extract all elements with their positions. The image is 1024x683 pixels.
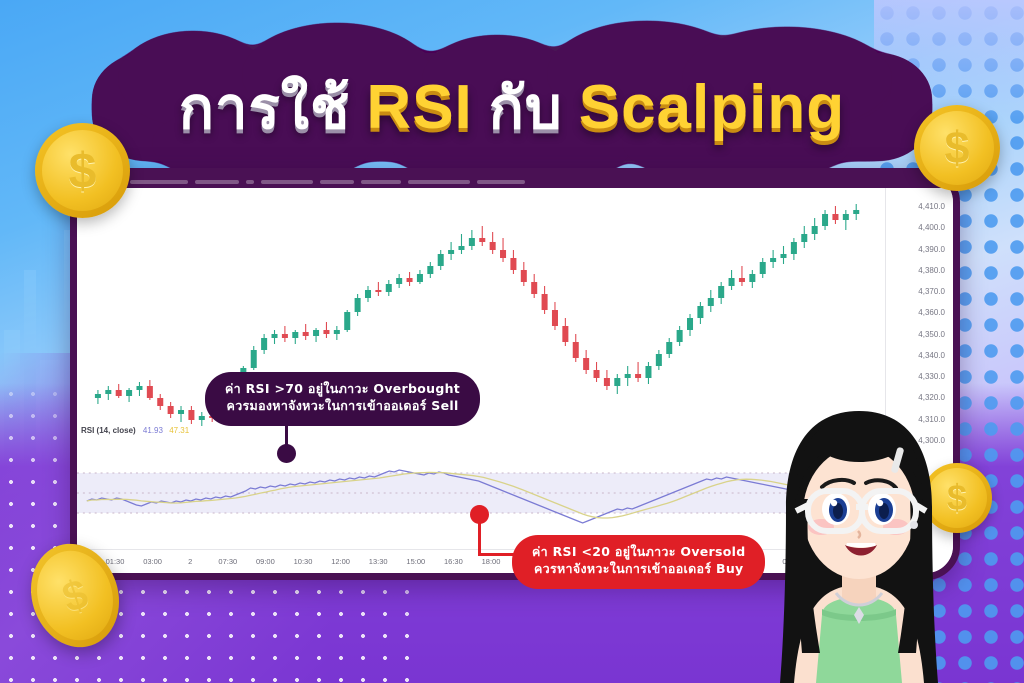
price-axis-tick: 4,390.0 [918,245,945,254]
price-axis-tick: 4,340.0 [918,351,945,360]
time-axis-tick: 09:00 [256,557,275,566]
price-axis-tick: 4,410.0 [918,202,945,211]
callout-marker-overbought [277,444,296,463]
callout-marker-oversold [470,505,489,524]
time-axis-tick: 07:30 [218,557,237,566]
time-axis-tick: 12:00 [331,557,350,566]
rsi-legend: RSI (14, close) 41.93 47.31 [81,426,189,435]
coin-dollar-symbol: $ [69,142,97,200]
earring [910,521,918,529]
time-axis-tick: 15:00 [406,557,425,566]
price-axis-tick: 4,330.0 [918,372,945,381]
price-axis-tick: 4,380.0 [918,266,945,275]
title-part-rsi: RSI [366,72,472,143]
time-axis-tick: 16:30 [444,557,463,566]
candlestick-series [77,188,885,436]
character-illustration [744,403,974,683]
coin-icon-left: $ [35,123,130,218]
chart-toolbar[interactable] [77,175,953,188]
callout-oversold: ค่า RSI <20 อยู่ในภาวะ Oversold ควรหาจัง… [512,535,765,589]
time-axis-tick: 2 [188,557,192,566]
page-title: การใช้ RSI กับ Scalping [92,53,932,161]
title-part-thai-1: การใช้ [179,61,351,154]
price-axis-tick: 4,320.0 [918,393,945,402]
title-part-scalping: Scalping [579,72,845,143]
rsi-legend-name: RSI (14, close) [81,426,136,435]
coin-dollar-symbol: $ [944,122,969,174]
callout-oversold-line2: ควรหาจังหวะในการเข้าออเดอร์ Buy [532,561,745,578]
time-axis-tick: 13:30 [369,557,388,566]
price-axis-tick: 4,350.0 [918,330,945,339]
candlestick-pane [77,188,885,436]
price-axis-tick: 4,370.0 [918,287,945,296]
callout-overbought-line2: ควรมองหาจังหวะในการเข้าออเดอร์ Sell [225,398,460,415]
rsi-legend-ma-value: 47.31 [169,426,189,435]
rsi-legend-value: 41.93 [143,426,163,435]
title-part-thai-2: กับ [489,61,563,154]
price-axis-tick: 4,360.0 [918,308,945,317]
price-axis-tick: 4,400.0 [918,223,945,232]
time-axis-tick: 18:00 [482,557,501,566]
time-axis-tick: 10:30 [294,557,313,566]
callout-overbought: ค่า RSI >70 อยู่ในภาวะ Overbought ควรมอง… [205,372,480,426]
coin-dollar-symbol: $ [56,569,93,622]
callout-oversold-line1: ค่า RSI <20 อยู่ในภาวะ Oversold [532,544,745,561]
time-axis-tick: 03:00 [143,557,162,566]
time-axis-tick: 01:30 [106,557,125,566]
callout-overbought-line1: ค่า RSI >70 อยู่ในภาวะ Overbought [225,381,460,398]
coin-icon-top-right: $ [914,105,1000,191]
